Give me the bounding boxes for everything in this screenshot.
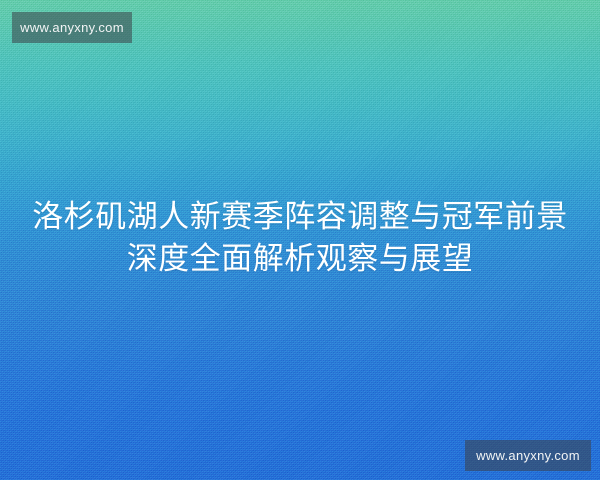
headline-title: 洛杉矶湖人新赛季阵容调整与冠军前景深度全面解析观察与展望 xyxy=(0,196,600,280)
watermark-bottom-right: www.anyxny.com xyxy=(465,440,591,471)
cover-image: www.anyxny.com 洛杉矶湖人新赛季阵容调整与冠军前景深度全面解析观察… xyxy=(0,0,600,480)
watermark-top-left: www.anyxny.com xyxy=(12,12,132,43)
watermark-bottom-right-text: www.anyxny.com xyxy=(476,448,580,463)
watermark-top-left-text: www.anyxny.com xyxy=(20,20,124,35)
headline-text: 洛杉矶湖人新赛季阵容调整与冠军前景深度全面解析观察与展望 xyxy=(32,199,568,277)
